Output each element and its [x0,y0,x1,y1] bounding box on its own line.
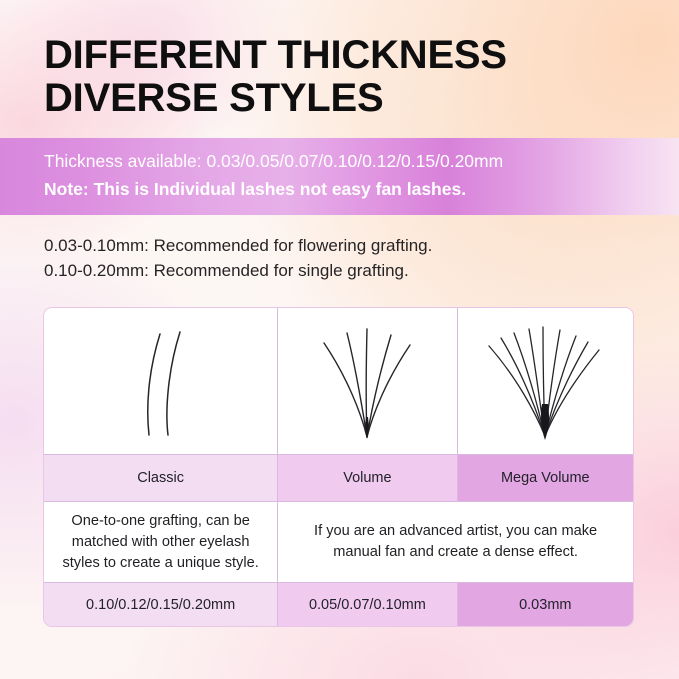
table-row-descriptions: One-to-one grafting, can be matched with… [44,502,633,583]
infographic-page: DIFFERENT THICKNESS DIVERSE STYLES Thick… [0,0,679,679]
banner-text-group: Thickness available: 0.03/0.05/0.07/0.10… [44,147,659,203]
thickness-banner: Thickness available: 0.03/0.05/0.07/0.10… [0,138,679,215]
table-row-thickness: 0.10/0.12/0.15/0.20mm 0.05/0.07/0.10mm 0… [44,583,633,626]
table-row-illustrations [44,308,633,455]
mega-volume-illustration-cell [458,308,633,454]
classic-lash-icon [118,322,204,440]
description-volume-mega: If you are an advanced artist, you can m… [278,502,633,582]
table-row-style-names: Classic Volume Mega Volume [44,455,633,502]
mega-volume-fan-icon [481,320,609,442]
style-name-volume: Volume [278,455,457,501]
thickness-mega-volume: 0.03mm [458,583,633,626]
banner-note-text: Note: This is Individual lashes not easy… [44,175,659,203]
thickness-classic: 0.10/0.12/0.15/0.20mm [44,583,278,626]
volume-fan-icon [313,321,421,441]
page-title: DIFFERENT THICKNESS DIVERSE STYLES [44,34,644,120]
recommendation-line-2: 0.10-0.20mm: Recommended for single graf… [44,258,644,283]
lash-comparison-table: Classic Volume Mega Volume One-to-one gr… [43,307,634,627]
recommendation-block: 0.03-0.10mm: Recommended for flowering g… [44,233,644,283]
description-classic: One-to-one grafting, can be matched with… [44,502,278,582]
classic-illustration-cell [44,308,278,454]
recommendation-line-1: 0.03-0.10mm: Recommended for flowering g… [44,233,644,258]
style-name-classic: Classic [44,455,278,501]
thickness-volume: 0.05/0.07/0.10mm [278,583,457,626]
style-name-mega-volume: Mega Volume [458,455,633,501]
volume-illustration-cell [278,308,457,454]
title-line-1: DIFFERENT THICKNESS [44,34,644,77]
thickness-available-text: Thickness available: 0.03/0.05/0.07/0.10… [44,147,659,175]
title-line-2: DIVERSE STYLES [44,77,644,120]
